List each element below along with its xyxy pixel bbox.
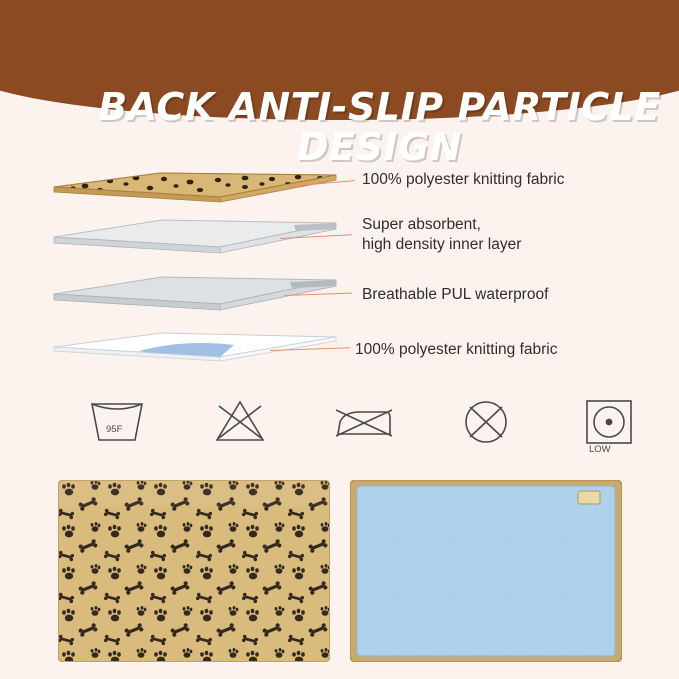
callout-label-top-fabric: 100% polyester knitting fabric <box>362 170 564 190</box>
bottom-fabric-layer <box>44 325 344 375</box>
do-not-dry-clean-icon <box>449 392 523 462</box>
do-not-iron-icon <box>326 392 400 462</box>
tumble-dry-low-icon: LOW <box>572 392 646 462</box>
pet-pad-back-view <box>350 480 622 662</box>
callout-label-bottom-fabric: 100% polyester knitting fabric <box>355 340 557 360</box>
pet-pad-front-view <box>58 480 330 662</box>
callout-label-pul: Breathable PUL waterproof <box>362 285 548 305</box>
machine-wash-icon: 95F <box>80 392 154 462</box>
care-symbols-row: 95F <box>60 392 626 462</box>
page-title: BACK ANTI-SLIP PARTICLE DESIGN <box>0 88 679 168</box>
product-infographic: BACK ANTI-SLIP PARTICLE DESIGN <box>0 0 679 679</box>
tumble-dry-low-label: LOW <box>589 444 611 455</box>
callout-label-absorbent: Super absorbent, high density inner laye… <box>362 215 521 255</box>
machine-wash-temp-label: 95F <box>106 424 122 435</box>
printed-top-fabric-layer <box>40 165 340 210</box>
do-not-bleach-icon <box>203 392 277 462</box>
